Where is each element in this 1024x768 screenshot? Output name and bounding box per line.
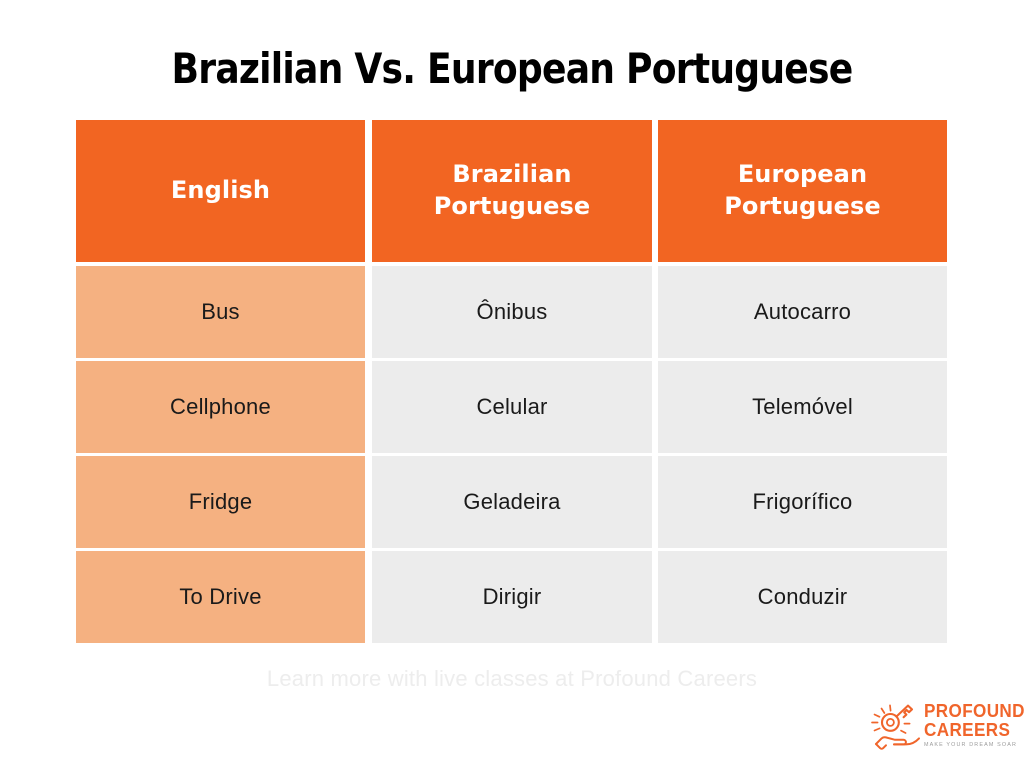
cell-english: Fridge [76,456,365,548]
cell-european: Frigorífico [658,456,947,548]
logo-wordmark: PROFOUND CAREERS MAKE YOUR DREAM SOAR [924,702,1012,749]
cell-english: To Drive [76,551,365,643]
cell-english: Cellphone [76,361,365,453]
cell-brazilian: Celular [372,361,652,453]
table-row: To Drive Dirigir Conduzir [76,551,947,643]
column-header-brazilian-portuguese: Brazilian Portuguese [372,120,652,262]
page-title: Brazilian Vs. European Portuguese [72,44,953,93]
footer-note: Learn more with live classes at Profound… [0,666,1024,692]
table-header-row: English Brazilian Portuguese European Po… [76,120,947,262]
header-line-1: Brazilian [452,160,571,188]
table-row: Fridge Geladeira Frigorífico [76,456,947,548]
logo-tagline: MAKE YOUR DREAM SOAR [924,742,1012,749]
column-header-european-portuguese-label: European Portuguese [724,159,881,222]
header-line-2: Portuguese [724,192,881,220]
cell-european: Conduzir [658,551,947,643]
cell-brazilian: Dirigir [372,551,652,643]
column-header-european-portuguese: European Portuguese [658,120,947,262]
table-row: Bus Ônibus Autocarro [76,266,947,358]
column-header-english: English [76,120,365,262]
hand-holding-key-icon [868,700,924,756]
header-line-2: Portuguese [434,192,591,220]
logo-line-1: PROFOUND [924,702,1008,721]
infographic-page: Brazilian Vs. European Portuguese Englis… [0,0,1024,768]
cell-european: Autocarro [658,266,947,358]
profound-careers-logo: PROFOUND CAREERS MAKE YOUR DREAM SOAR [868,698,1012,762]
comparison-table: English Brazilian Portuguese European Po… [76,120,947,643]
table-row: Cellphone Celular Telemóvel [76,361,947,453]
cell-brazilian: Ônibus [372,266,652,358]
logo-line-2: CAREERS [924,721,1008,740]
column-header-english-label: English [171,175,270,207]
header-line-1: European [738,160,867,188]
cell-brazilian: Geladeira [372,456,652,548]
cell-english: Bus [76,266,365,358]
column-header-brazilian-portuguese-label: Brazilian Portuguese [434,159,591,222]
cell-european: Telemóvel [658,361,947,453]
